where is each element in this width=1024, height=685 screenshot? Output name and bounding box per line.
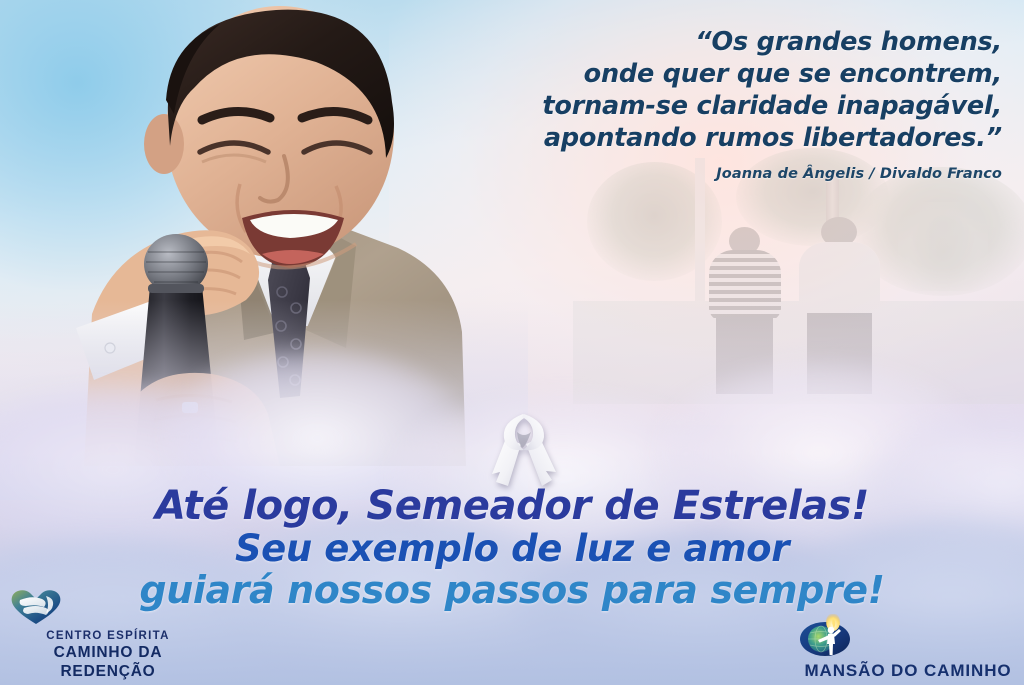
quote-line-1: “Os grandes homens, — [422, 26, 1002, 58]
logo-centro-espirita: CENTRO ESPÍRITA CAMINHO DA REDENÇÃO — [8, 586, 208, 681]
globe-figure-torch-icon — [798, 614, 1018, 658]
quote-line-4: apontando rumos libertadores.” — [422, 122, 1002, 154]
tribute-poster: “Os grandes homens, onde quer que se enc… — [0, 0, 1024, 685]
logo-left-line-1: CENTRO ESPÍRITA — [8, 629, 208, 643]
quote-line-2: onde quer que se encontrem, — [422, 58, 1002, 90]
white-mourning-ribbon-icon — [484, 408, 562, 492]
headline-line-1: Até logo, Semeador de Estrelas! — [0, 484, 1024, 528]
logo-left-line-2: CAMINHO DA REDENÇÃO — [8, 643, 208, 681]
quote-line-3: tornam-se claridade inapagável, — [422, 90, 1002, 122]
quote-block: “Os grandes homens, onde quer que se enc… — [422, 26, 1002, 182]
logo-right-line-1: MANSÃO DO CAMINHO — [798, 661, 1018, 681]
quote-attribution: Joanna de Ângelis / Divaldo Franco — [422, 166, 1002, 182]
palm-tree-icon — [898, 202, 988, 291]
logo-mansao-do-caminho: MANSÃO DO CAMINHO — [798, 614, 1018, 681]
headline-line-2: Seu exemplo de luz e amor — [0, 528, 1024, 569]
hands-heart-icon — [8, 586, 208, 626]
